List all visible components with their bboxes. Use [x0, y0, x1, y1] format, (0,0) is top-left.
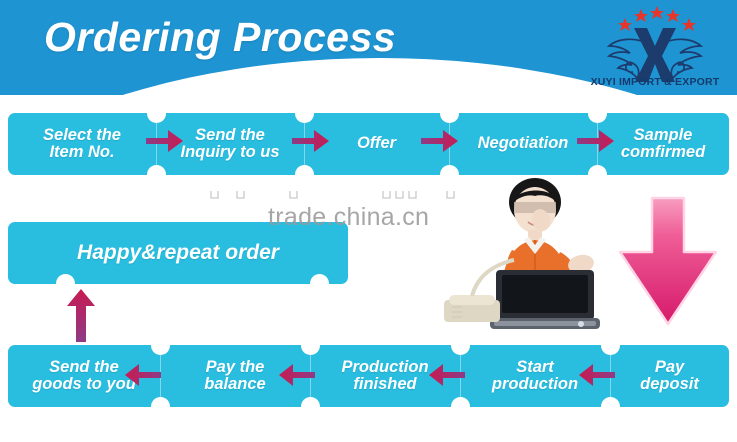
page-title: Ordering Process [44, 14, 396, 61]
puzzle-knob [151, 397, 170, 416]
step-label: Send the Inquiry to us [177, 127, 284, 161]
big-arrow-down-icon [612, 196, 724, 328]
step-sample-confirmed[interactable]: Sample comfirmed [597, 113, 729, 175]
step-label: Sample comfirmed [617, 127, 709, 161]
puzzle-knob [310, 274, 329, 293]
step-negotiation[interactable]: Negotiation [449, 113, 597, 175]
puzzle-knob [295, 165, 314, 184]
company-logo: XUYI IMPORT & EXPORT [585, 4, 725, 96]
step-select-item-no[interactable]: Select the Item No. [8, 113, 156, 175]
ordering-process-infographic: Ordering Process XUYI IMPORT & EXPORT [0, 0, 737, 442]
logo-caption: XUYI IMPORT & EXPORT [585, 76, 725, 88]
puzzle-knob [301, 336, 320, 355]
puzzle-knob [588, 104, 607, 123]
puzzle-knob [601, 397, 620, 416]
arrow-right-icon [577, 128, 615, 154]
arrow-up-icon [66, 288, 96, 343]
watermark-text: trade.china.cn [268, 203, 429, 232]
arrow-left-icon [278, 362, 316, 388]
puzzle-knob [147, 165, 166, 184]
step-label: Start production [488, 359, 582, 393]
step-label: Select the Item No. [39, 127, 125, 161]
arrow-left-icon [124, 362, 162, 388]
puzzle-knob [301, 397, 320, 416]
puzzle-knob [147, 104, 166, 123]
arrow-right-icon [292, 128, 330, 154]
step-label: Happy&repeat order [73, 242, 283, 264]
step-label: Pay the balance [200, 359, 269, 393]
puzzle-knob [440, 104, 459, 123]
step-label: Offer [353, 135, 400, 152]
arrow-right-icon [421, 128, 459, 154]
woman-on-phone-illustration [440, 178, 615, 338]
arrow-left-icon [578, 362, 616, 388]
step-label: Negotiation [474, 135, 573, 152]
puzzle-knob [451, 336, 470, 355]
step-label: Pay deposit [636, 359, 703, 393]
puzzle-knob [601, 336, 620, 355]
flow-row-3: Send the goods to you Pay the balance Pr… [8, 345, 729, 407]
logo-letter-x-icon [634, 28, 676, 82]
step-pay-deposit[interactable]: Pay deposit [610, 345, 729, 407]
arrow-left-icon [428, 362, 466, 388]
puzzle-knob [451, 397, 470, 416]
puzzle-knob [151, 336, 170, 355]
step-label: Production finished [337, 359, 432, 393]
puzzle-knob [295, 104, 314, 123]
arrow-right-icon [146, 128, 184, 154]
logo-stars-icon [618, 6, 696, 31]
flow-row-1: Select the Item No. Send the Inquiry to … [8, 113, 729, 175]
